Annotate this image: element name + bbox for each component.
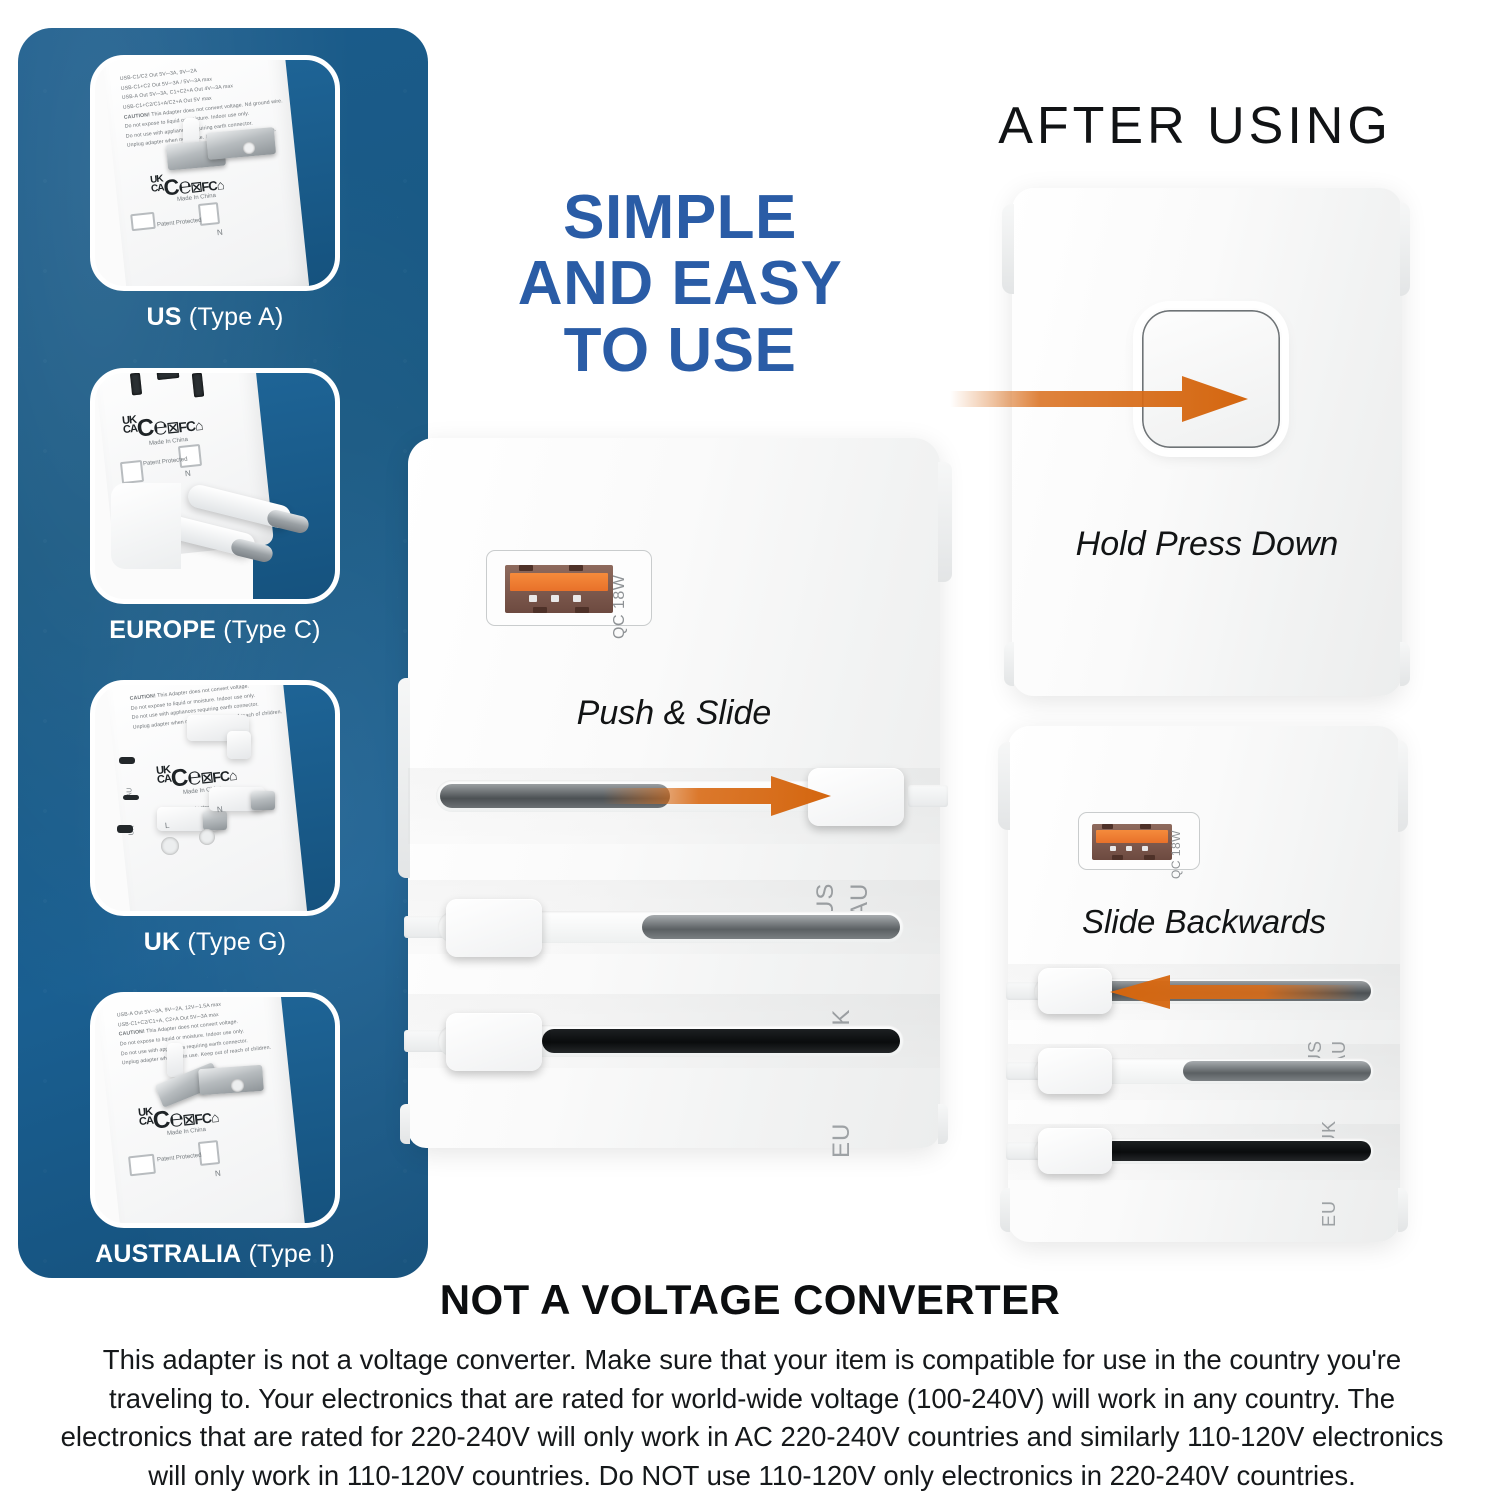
device-side-tab-right <box>938 462 952 582</box>
main-adapter-device: QC 18W Push & Slide US AU <box>408 438 940 1148</box>
press-device-foot-left <box>1004 642 1014 686</box>
arrow-slide-backwards-left <box>1108 974 1358 1010</box>
usb-notch-br <box>575 607 589 613</box>
plug-type-australia: (Type I) <box>249 1240 335 1268</box>
back-slider-fill-uk <box>1183 1061 1371 1081</box>
pin-label-n-eu: N <box>185 469 192 479</box>
plug-label-uk: UK (Type G) <box>90 928 340 957</box>
device-foot-right <box>938 1104 948 1144</box>
slide-device-foot-right <box>1398 1188 1408 1232</box>
usb-port-body <box>505 565 613 613</box>
press-device-foot-right <box>1400 642 1410 686</box>
usb-contact-2 <box>551 595 559 602</box>
slider-stub-us-au <box>908 785 948 807</box>
plug-name-uk: UK <box>144 928 181 956</box>
back-slider-knob-us-au[interactable] <box>1038 968 1112 1014</box>
pin-label-n-us: N <box>217 228 224 238</box>
device-foot-left <box>400 1104 410 1144</box>
back-slider-knob-uk[interactable] <box>1038 1048 1112 1094</box>
usb-contact-back-1 <box>1110 846 1116 851</box>
plug-name-us: US <box>147 303 182 331</box>
slider-fill-uk <box>642 915 900 939</box>
plug-type-us: (Type A) <box>189 303 284 331</box>
arrow-push-slide-right <box>603 774 833 818</box>
back-slider-knob-eu[interactable] <box>1038 1128 1112 1174</box>
headline-line-1: SIMPLE <box>455 185 905 251</box>
hold-press-instruction: Hold Press Down <box>1012 525 1402 564</box>
usb-notch-back-tr <box>1140 824 1151 829</box>
slide-back-device: QC 18W Slide Backwards US AU <box>1008 726 1400 1242</box>
slide-device-tab-right <box>1398 740 1408 832</box>
usb-qc-label-back: QC 18W <box>1169 830 1183 879</box>
au-prong-b <box>198 1065 264 1095</box>
press-device-tab-left <box>1002 204 1014 294</box>
socket-slot-l <box>120 460 144 484</box>
plug-photo-australia: USB-A Out 5V⎓3A, 9V⎓2A, 12V⎓1.5A max USB… <box>90 992 340 1228</box>
back-slider-fill-eu <box>1103 1141 1371 1161</box>
infographic-page: USB-C1/C2 Out 5V⎓3A, 9V⎓2A USB-C1+C2 Out… <box>0 0 1500 1500</box>
bottom-paragraph: This adapter is not a voltage converter.… <box>58 1341 1446 1495</box>
headline-line-2: AND EASY <box>455 251 905 317</box>
push-slide-instruction: Push & Slide <box>408 694 940 733</box>
socket-top-a <box>130 373 142 396</box>
plug-label-europe: EUROPE (Type C) <box>90 616 340 645</box>
usb-contact-back-2 <box>1126 846 1132 851</box>
uk-pin-hole-b <box>199 829 215 845</box>
slider-fill-eu <box>542 1029 900 1053</box>
uk-prong-earth-2 <box>227 731 251 759</box>
plug-type-uk: (Type G) <box>187 928 286 956</box>
plug-type-europe: (Type C) <box>223 616 320 644</box>
usb-contact-3 <box>573 595 581 602</box>
usb-notch-tl <box>519 565 533 571</box>
plug-card-australia: USB-A Out 5V⎓3A, 9V⎓2A, 12V⎓1.5A max USB… <box>90 992 340 1269</box>
plug-name-australia: AUSTRALIA <box>95 1240 241 1268</box>
side-port-au <box>119 757 135 764</box>
usb-contact-back-3 <box>1142 846 1148 851</box>
slider-knob-uk[interactable] <box>446 899 542 957</box>
au-pin-hole <box>231 1079 244 1092</box>
socket-slot-n <box>178 444 202 468</box>
uk-prong-live-tip <box>203 811 227 830</box>
pin-label-n-au: N <box>215 1169 222 1179</box>
plug-label-us: US (Type A) <box>90 303 340 332</box>
usb-qc-label: QC 18W <box>611 575 629 639</box>
usb-notch-back-br <box>1144 855 1155 860</box>
page-headline: SIMPLE AND EASY TO USE <box>455 185 905 384</box>
pin-label-l-uk: L <box>165 821 170 830</box>
plug-photo-us: USB-C1/C2 Out 5V⎓3A, 9V⎓2A USB-C1+C2 Out… <box>90 55 340 291</box>
plug-card-uk: CAUTION! This Adapter does not convert v… <box>90 680 340 957</box>
plug-card-us: USB-C1/C2 Out 5V⎓3A, 9V⎓2A USB-C1+C2 Out… <box>90 55 340 332</box>
press-device-tab-right <box>1400 202 1410 296</box>
uk-prong-neutral-tip <box>251 791 275 810</box>
bottom-title: NOT A VOLTAGE CONVERTER <box>0 1276 1500 1324</box>
after-using-title: AFTER USING <box>935 96 1455 156</box>
socket-slot-l-au <box>128 1154 156 1177</box>
usb-contact-1 <box>529 595 537 602</box>
pin-hole <box>243 142 255 154</box>
side-port-uk <box>123 795 139 800</box>
usb-port-tongue <box>510 573 608 591</box>
au-prong-white <box>167 1043 183 1077</box>
back-slider-label-eu: EU <box>1319 1200 1340 1227</box>
socket-slot-l <box>130 212 156 231</box>
usb-port-frame-back: QC 18W <box>1078 812 1200 870</box>
slide-device-tab-left <box>998 742 1010 830</box>
plug-name-europe: EUROPE <box>109 616 216 644</box>
usb-port-tongue-back <box>1096 830 1168 843</box>
eu-plug-base <box>111 483 181 569</box>
slide-backwards-instruction: Slide Backwards <box>1008 903 1400 941</box>
uk-pin-hole-a <box>161 837 179 855</box>
slider-knob-eu[interactable] <box>446 1013 542 1071</box>
usb-notch-tr <box>569 565 583 571</box>
plug-photo-europe: UKCAC℮☒FC⌂ Made In China Patent Protecte… <box>90 368 340 604</box>
arrow-press-down-right <box>950 372 1250 426</box>
usb-notch-back-bl <box>1112 855 1123 860</box>
usb-port-body-back <box>1092 824 1172 860</box>
usb-notch-bl <box>533 607 547 613</box>
usb-notch-back-tl <box>1102 824 1113 829</box>
plug-photo-uk: CAUTION! This Adapter does not convert v… <box>90 680 340 916</box>
pin-label-n-uk: N <box>217 805 224 815</box>
usb-port-frame: QC 18W <box>486 550 652 626</box>
plug-label-australia: AUSTRALIA (Type I) <box>90 1240 340 1269</box>
press-down-device: Hold Press Down <box>1012 188 1402 696</box>
side-port-eu <box>117 825 133 833</box>
headline-line-3: TO USE <box>455 318 905 384</box>
slide-device-foot-left <box>1000 1188 1010 1232</box>
plug-card-europe: UKCAC℮☒FC⌂ Made In China Patent Protecte… <box>90 368 340 645</box>
slider-label-eu: EU <box>828 1123 856 1158</box>
